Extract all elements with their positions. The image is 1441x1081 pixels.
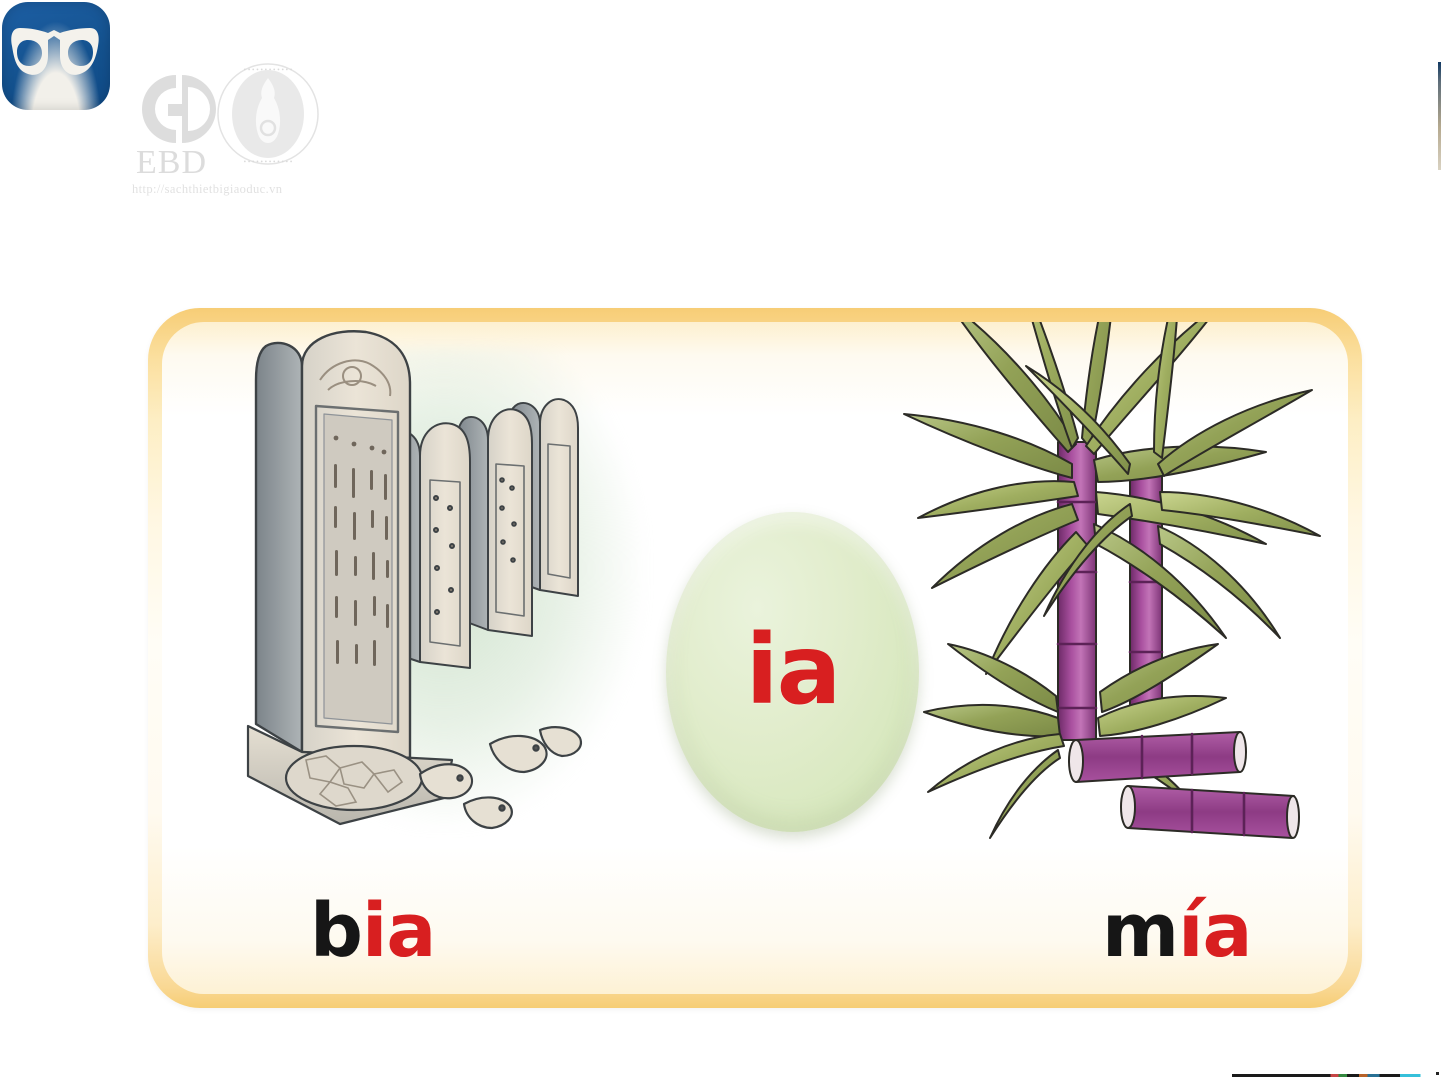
publisher-watermark: EBD • • • • • • • • • • • • • • • • • • … <box>130 58 340 218</box>
watermark-url: http://sachthietbigiaoduc.vn <box>132 182 282 197</box>
svg-text:• • • • • • • • • • • •: • • • • • • • • • • • • <box>244 158 293 166</box>
sugarcane-drawing <box>862 322 1348 872</box>
word-label-bia: bia <box>310 894 435 968</box>
watermark-logo-subtext: EBD <box>136 144 207 182</box>
word-bia-rime: ia <box>362 888 435 974</box>
bottom-dot-artifact <box>1436 1072 1439 1075</box>
binoculars-mascot-icon <box>10 24 102 80</box>
rime-oval[interactable]: ia <box>666 512 919 832</box>
word-bia-onset: b <box>310 888 362 974</box>
publisher-seal-icon: • • • • • • • • • • • • • • • • • • • • … <box>214 60 322 168</box>
word-label-mia: mía <box>1102 894 1251 968</box>
rime-text: ia <box>746 622 840 718</box>
bottom-color-strip-artifact <box>1232 1074 1437 1077</box>
word-mia-onset: m <box>1102 888 1178 974</box>
stele-drawing <box>244 328 674 888</box>
stele-illustration <box>244 328 674 888</box>
app-avatar[interactable] <box>2 2 110 110</box>
gd-logo-icon <box>138 70 220 148</box>
word-mia-rime: ía <box>1178 888 1251 974</box>
svg-text:• • • • • • • • • • • •: • • • • • • • • • • • • <box>244 66 293 74</box>
sugarcane-illustration <box>862 322 1348 872</box>
lesson-card-inner: ia bia mía <box>162 322 1348 994</box>
lesson-card: ia bia mía <box>148 308 1362 1008</box>
